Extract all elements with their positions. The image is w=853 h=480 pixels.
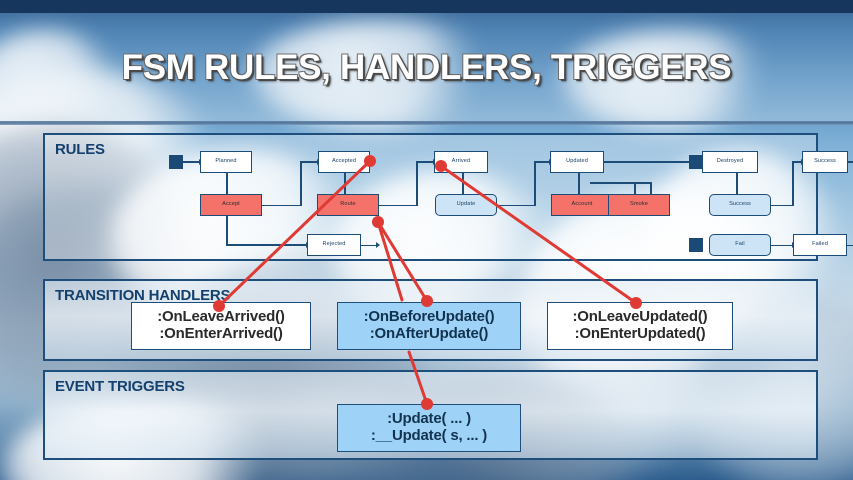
fsm-node-rejected[interactable]: Rejected [307, 234, 361, 256]
fsm-node-label: Fail [735, 242, 744, 248]
fsm-node-route[interactable]: Route [317, 194, 379, 216]
fsm-node-label: Account [572, 202, 593, 208]
fsm-node-label: Route [340, 202, 355, 208]
fsm-node-failed[interactable]: Failed [793, 234, 847, 256]
fsm-node-label: Update [457, 202, 476, 208]
fsm-node-accept[interactable]: Accept [200, 194, 262, 216]
terminal-start [169, 155, 183, 169]
handler-line: :OnLeaveUpdated() [573, 309, 708, 326]
handler-line: :OnLeaveArrived() [157, 309, 284, 326]
fsm-node-label: Planned [215, 159, 236, 165]
fsm-node-destroyed[interactable]: Destroyed [702, 151, 758, 173]
fsm-node-label: Arrived [452, 159, 470, 165]
fsm-node-label: Success [814, 159, 836, 165]
fsm-node-label: Failed [812, 242, 828, 248]
fsm-node-label: Destroyed [717, 159, 743, 165]
fsm-node-update[interactable]: Update [435, 194, 497, 216]
panel-triggers-title: EVENT TRIGGERS [55, 378, 185, 395]
panel-rules: RULES [43, 133, 818, 261]
fsm-node-planned[interactable]: Planned [200, 151, 252, 173]
handler-line: :OnAfterUpdate() [370, 326, 488, 343]
fsm-node-label: Success [729, 202, 751, 208]
fsm-node-label: Accepted [332, 159, 356, 165]
fsm-node-arrived[interactable]: Arrived [434, 151, 488, 173]
fsm-node-smoke[interactable]: Smoke [608, 194, 670, 216]
header-divider [0, 121, 853, 125]
trigger-line: :__Update( s, ... ) [371, 428, 487, 445]
handler-line: :OnEnterArrived() [159, 326, 282, 343]
fsm-node-success[interactable]: Success [802, 151, 848, 173]
callout-arrived-handlers[interactable]: :OnLeaveArrived() :OnEnterArrived() [131, 302, 311, 350]
fsm-node-success-trigger[interactable]: Success [709, 194, 771, 216]
callout-updated-handlers[interactable]: :OnLeaveUpdated() :OnEnterUpdated() [547, 302, 733, 350]
fsm-node-label: Rejected [323, 242, 346, 248]
fsm-node-label: Smoke [630, 202, 648, 208]
trigger-line: :Update( ... ) [387, 411, 471, 428]
page-title: FSM RULES, HANDLERS, TRIGGERS [0, 48, 853, 88]
slide-canvas: FSM RULES, HANDLERS, TRIGGERS RULES [0, 0, 853, 480]
fsm-node-accepted[interactable]: Accepted [318, 151, 370, 173]
top-accent-bar [0, 0, 853, 13]
callout-update-trigger[interactable]: :Update( ... ) :__Update( s, ... ) [337, 404, 521, 452]
callout-update-handlers[interactable]: :OnBeforeUpdate() :OnAfterUpdate() [337, 302, 521, 350]
fsm-state-diagram: Planned Accepted Arrived Updated Destroy… [45, 135, 820, 263]
handler-line: :OnEnterUpdated() [575, 326, 706, 343]
handler-line: :OnBeforeUpdate() [364, 309, 495, 326]
terminal-end-failed [689, 238, 703, 252]
fsm-node-fail[interactable]: Fail [709, 234, 771, 256]
fsm-node-label: Updated [566, 159, 588, 165]
fsm-node-updated[interactable]: Updated [550, 151, 604, 173]
fsm-node-label: Accept [222, 202, 240, 208]
fsm-node-account[interactable]: Account [551, 194, 613, 216]
